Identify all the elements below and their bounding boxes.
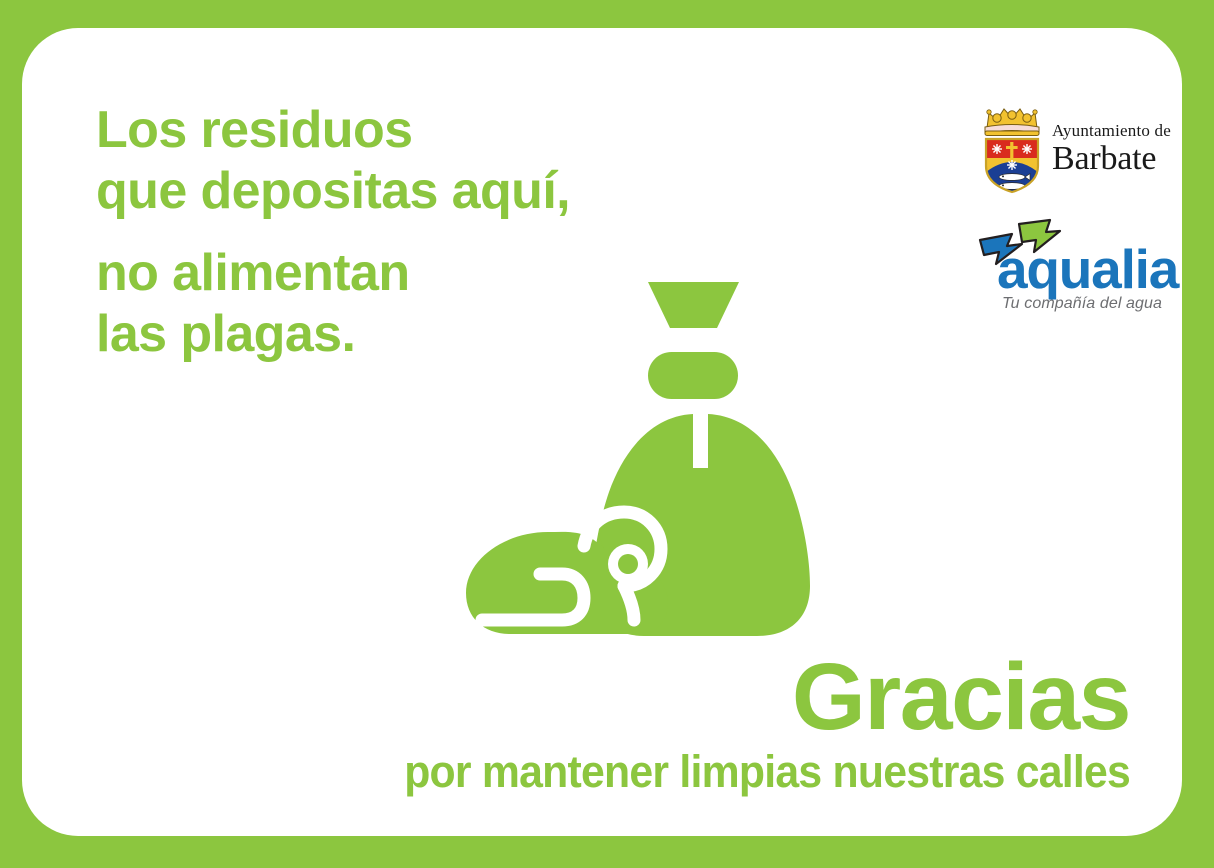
thanks-heading: Gracias — [366, 651, 1130, 744]
shield-fields — [986, 139, 1038, 194]
barbate-wordmark: Ayuntamiento de Barbate — [1052, 122, 1171, 176]
aqualia-tagline: Tu compañía del agua — [1002, 296, 1162, 312]
poster-root: Los residuos que depositas aquí, no alim… — [0, 0, 1214, 868]
headline-line-2: que depositas aquí, — [96, 161, 570, 222]
thanks-subtitle: por mantener limpias nuestras calles — [404, 747, 1130, 797]
bag-tie-icon — [648, 352, 738, 399]
aqualia-logo: aqualia Tu compañía del agua — [972, 218, 1177, 316]
headline-line-1: Los residuos — [96, 100, 570, 161]
barbate-wordmark-line-1: Ayuntamiento de — [1052, 122, 1171, 139]
bag-top-icon — [648, 282, 739, 328]
footer: Gracias por mantener limpias nuestras ca… — [366, 651, 1130, 796]
aqualia-wordmark: aqualia — [997, 242, 1178, 297]
poster-card: Los residuos que depositas aquí, no alim… — [22, 28, 1182, 836]
headline-block-1: Los residuos que depositas aquí, — [96, 100, 570, 223]
trash-bag-with-mouse-illustration — [452, 268, 852, 648]
barbate-logo: Ayuntamiento de Barbate — [977, 98, 1177, 194]
barbate-coat-of-arms-icon — [977, 98, 1047, 194]
crown-icon — [985, 109, 1039, 136]
barbate-wordmark-line-2: Barbate — [1052, 142, 1171, 176]
mouse-eye-icon — [608, 544, 648, 584]
